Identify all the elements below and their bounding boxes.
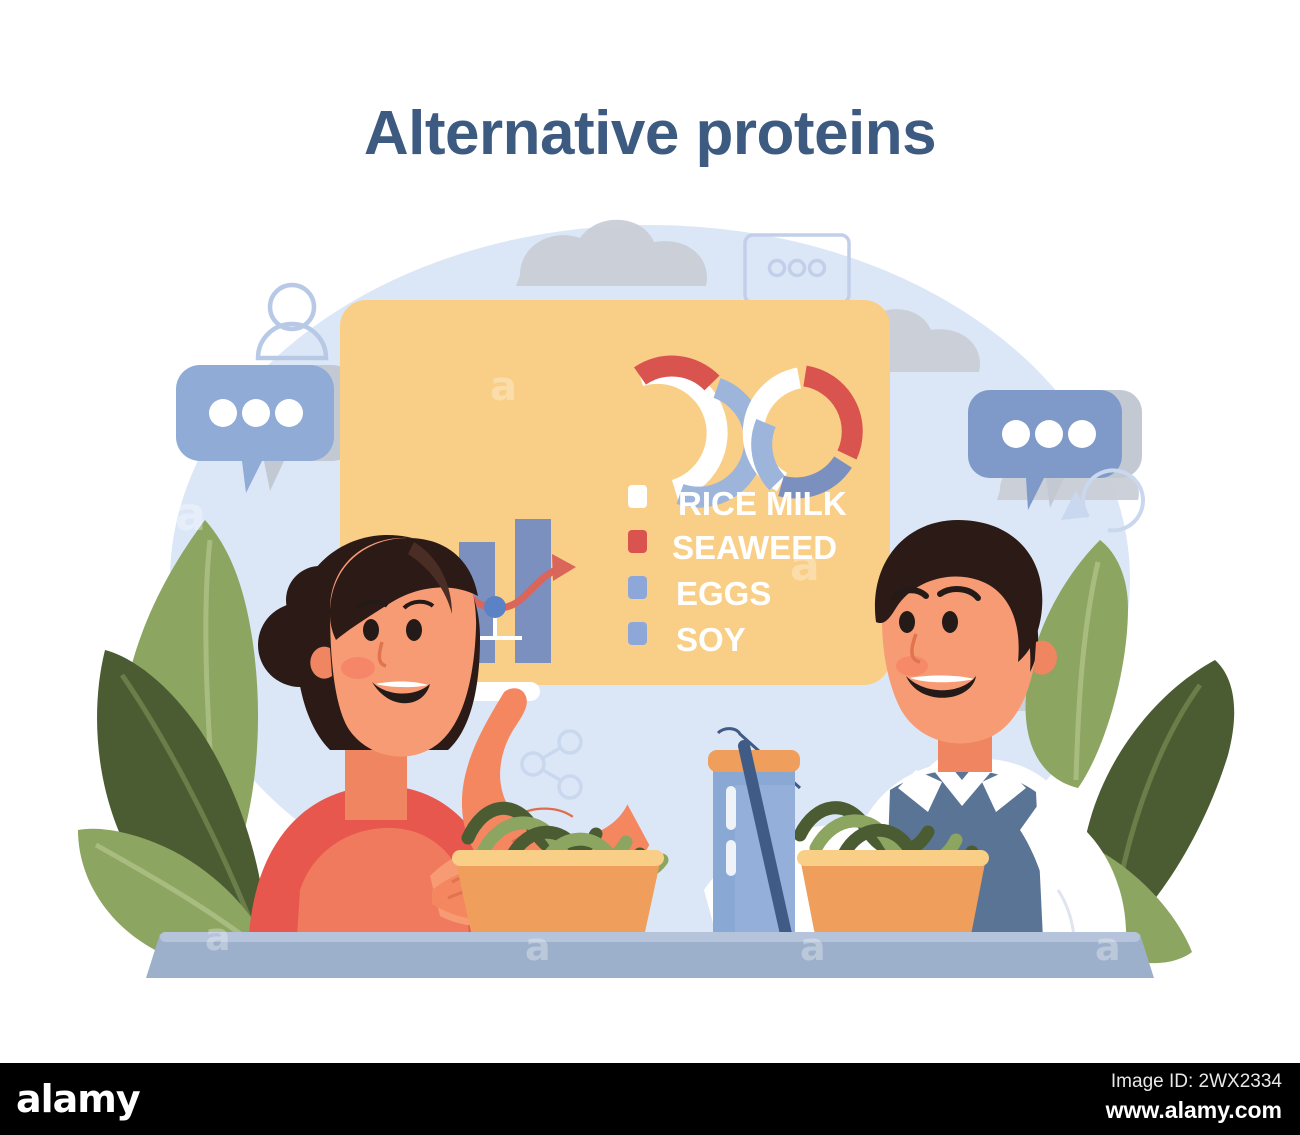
svg-text:a: a: [205, 915, 231, 959]
eye: [363, 619, 379, 641]
legend-label-soy: SOY: [676, 621, 746, 658]
legend-swatch-eggs: [628, 576, 647, 599]
alamy-url: www.alamy.com: [1106, 1097, 1282, 1124]
legend-label-eggs: EGGS: [676, 575, 771, 612]
image-id-label: Image ID: 2WX2334: [1111, 1071, 1282, 1093]
legend-label-rice-milk: RICE MILK: [678, 485, 847, 522]
table-surface: [146, 932, 1154, 978]
illustration-canvas: a a: [0, 190, 1300, 980]
legend-label-seaweed: SEAWEED: [672, 529, 837, 566]
svg-text:a: a: [525, 925, 551, 969]
svg-text:a: a: [175, 487, 206, 541]
eye: [899, 611, 915, 633]
watermark-footer: alamy Image ID: 2WX2334 www.alamy.com: [0, 1063, 1300, 1135]
eye: [942, 611, 958, 633]
alamy-logo: alamy: [16, 1077, 140, 1121]
legend-swatch-seaweed: [628, 530, 647, 553]
watermark-glyph: a: [490, 364, 517, 410]
legend-swatch-soy: [628, 622, 647, 645]
svg-text:a: a: [1095, 925, 1121, 969]
page-title: Alternative proteins: [0, 98, 1300, 169]
legend-swatch-rice-milk: [628, 485, 647, 508]
drink-cup: [708, 729, 800, 938]
illustration-page: Alternative proteins: [0, 0, 1300, 1135]
svg-text:a: a: [800, 925, 826, 969]
data-point: [484, 596, 506, 618]
eye: [406, 619, 422, 641]
